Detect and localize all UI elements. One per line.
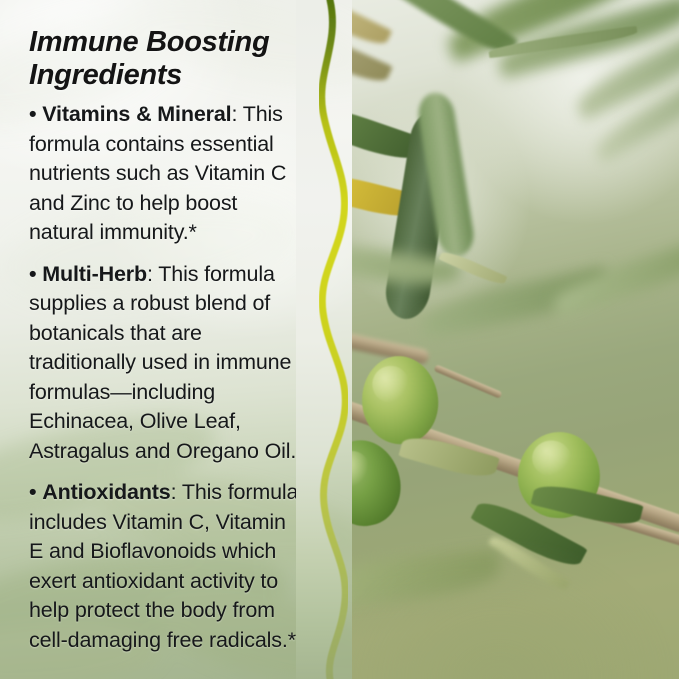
text-panel: Immune Boosting Ingredients • Vitamins &… <box>0 0 352 679</box>
list-item: • Antioxidants: This formula includes Vi… <box>29 478 305 655</box>
olive-highlight <box>531 439 573 478</box>
bullet-body: This formula includes Vitamin C, Vitamin… <box>29 480 298 652</box>
infographic-card: Immune Boosting Ingredients • Vitamins &… <box>0 0 679 679</box>
bullet-term: Vitamins & Mineral <box>42 102 231 126</box>
list-item: • Vitamins & Mineral: This formula conta… <box>29 100 305 248</box>
olive-highlight <box>371 364 411 405</box>
bullet-term: Multi-Herb <box>42 262 147 286</box>
text-content: Immune Boosting Ingredients • Vitamins &… <box>0 0 320 655</box>
olive-branch-photo <box>320 0 679 679</box>
bullet-body: This formula supplies a robust blend of … <box>29 262 304 463</box>
page-title: Immune Boosting Ingredients <box>29 26 309 92</box>
bullet-term: Antioxidants <box>42 480 170 504</box>
list-item: • Multi-Herb: This formula supplies a ro… <box>29 260 305 467</box>
